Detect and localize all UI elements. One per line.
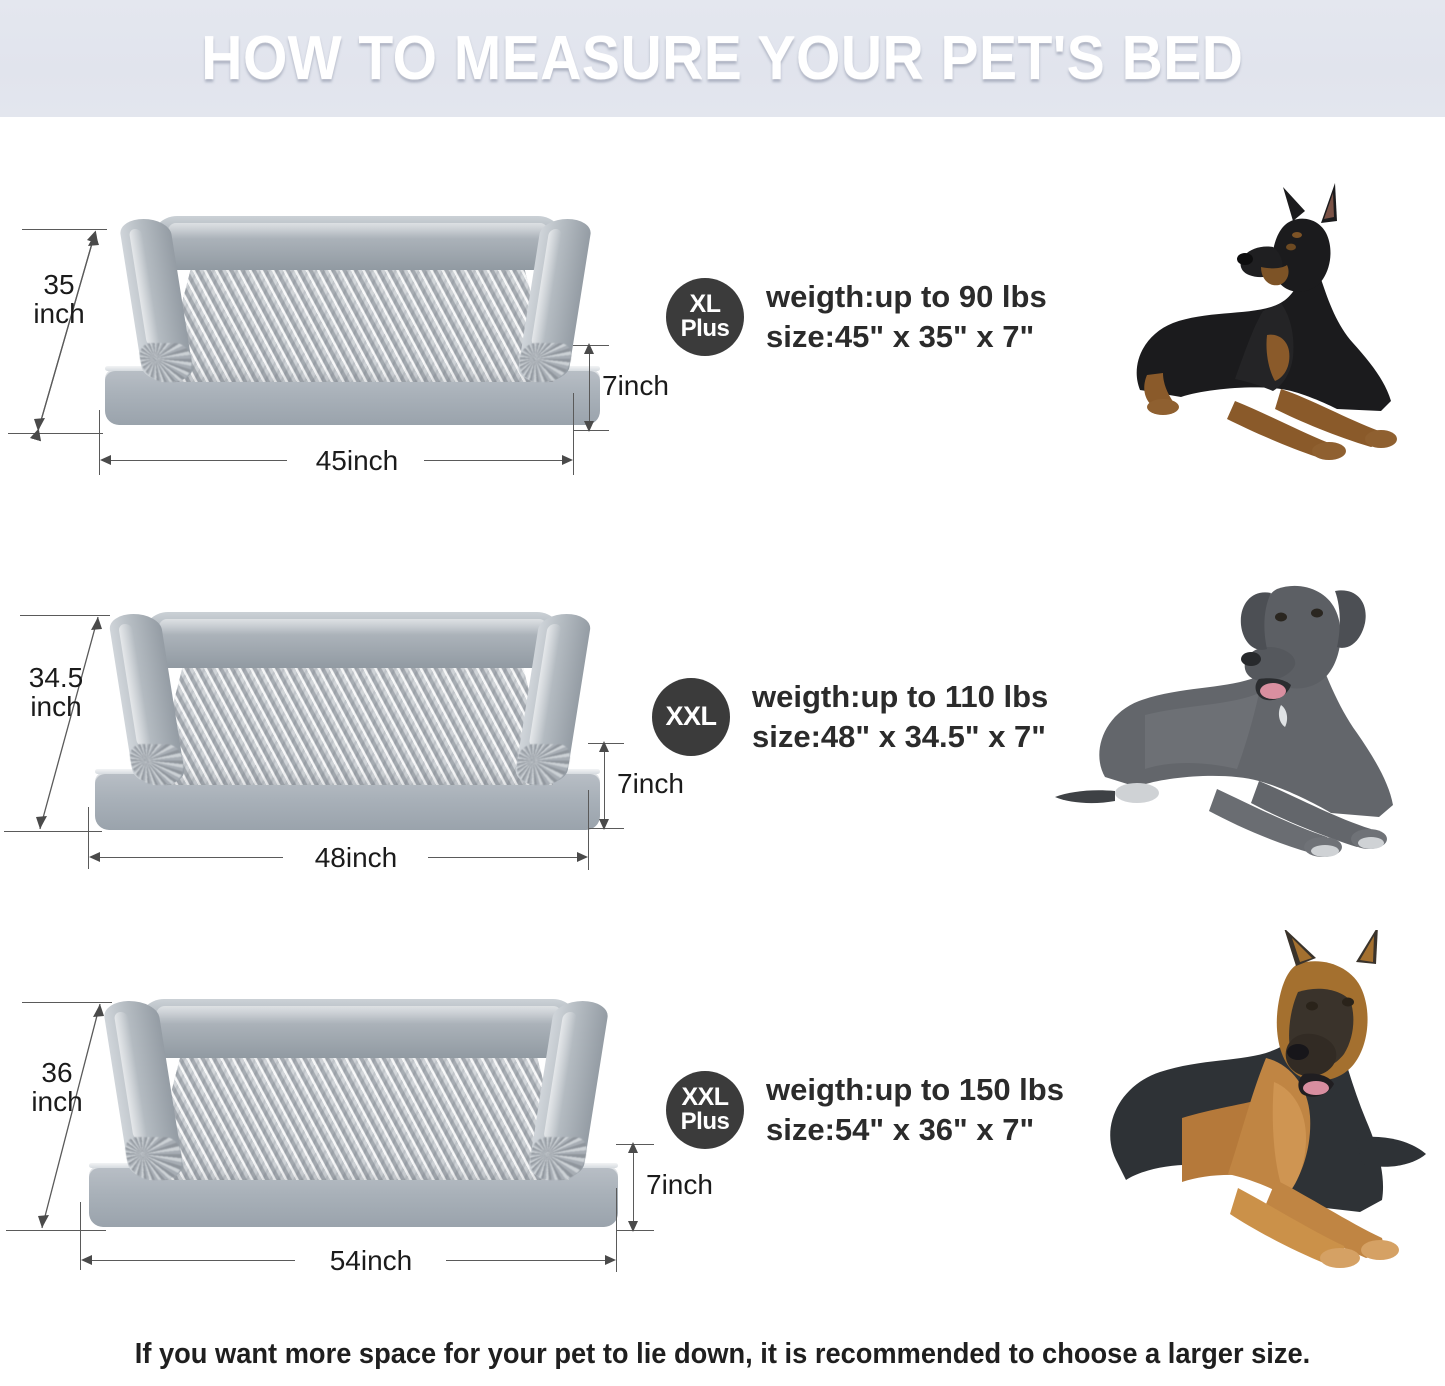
width-tick-right [573,393,574,475]
depth-arrow [0,215,130,450]
width-line-right [428,857,583,858]
size-badge-xxl: XXL [652,678,730,756]
depth-label: 34.5 inch [6,663,106,722]
spec-weight: weigth:up to 90 lbs [766,277,1047,317]
bed-back-bolster [151,216,564,270]
spec-weight: weigth:up to 110 lbs [752,677,1048,717]
width-label: 45inch [287,446,427,475]
height-line [633,1147,634,1227]
spec-weight: weigth:up to 150 lbs [766,1070,1064,1110]
spec-text-block: weigth:up to 110 lbs size:48" x 34.5" x … [752,677,1048,756]
spec-xxl: XXL weigth:up to 110 lbs size:48" x 34.5… [652,677,1048,756]
badge-line-1: XXL [665,703,716,730]
bed-mattress-surface [161,262,554,382]
width-label: 54inch [295,1246,447,1275]
great-dane-dog-image [1045,555,1435,865]
german-shepherd-dog-image [1060,930,1445,1270]
spec-size: size:54" x 36" x 7" [766,1110,1064,1150]
width-arrowhead-left [89,852,100,862]
doberman-dog-image [1085,175,1435,475]
infographic-page: HOW TO MEASURE YOUR PET'S BED [0,0,1445,1386]
height-arrowhead-bottom [584,421,594,432]
bed-illustration [95,210,605,425]
height-label: 7inch [646,1170,756,1199]
width-arrowhead-right [562,455,573,465]
bed-diagram-xxl-plus: 36 inch 54inch 7inch [0,930,700,1300]
depth-arrow [0,988,130,1246]
height-label: 7inch [617,769,727,798]
depth-label: 36 inch [8,1058,106,1117]
badge-line-1: XXL [681,1085,728,1110]
bed-mattress-surface [153,659,553,785]
bed-illustration [85,605,605,830]
height-arrowhead-top [628,1142,638,1153]
height-line [589,348,590,427]
height-arrowhead-top [584,343,594,354]
size-badge-xl-plus: XL Plus [666,278,744,356]
width-line-left [93,857,283,858]
size-row-xxl: 34.5 inch 48inch 7inch XXL weigth:up t [0,545,1445,900]
bed-back-bolster [138,999,579,1058]
badge-line-2: Plus [681,317,730,341]
width-line-left [104,460,287,461]
bed-back-bolster [142,612,563,668]
header-banner: HOW TO MEASURE YOUR PET'S BED [0,0,1445,117]
height-arrowhead-bottom [599,819,609,830]
width-arrowhead-right [605,1255,616,1265]
height-label: 7inch [602,371,712,400]
height-arrowhead-top [599,741,609,752]
page-title: HOW TO MEASURE YOUR PET'S BED [201,23,1243,94]
spec-xl-plus: XL Plus weigth:up to 90 lbs size:45" x 3… [666,277,1047,356]
width-arrowhead-right [577,852,588,862]
bed-mattress-surface [149,1048,569,1180]
depth-label: 35 inch [14,270,104,329]
bed-illustration [78,992,623,1227]
badge-line-2: Plus [681,1110,730,1134]
height-arrowhead-bottom [628,1221,638,1232]
footer-note: If you want more space for your pet to l… [43,1338,1401,1371]
size-badge-xxl-plus: XXL Plus [666,1071,744,1149]
width-line-left [85,1260,295,1261]
spec-text-block: weigth:up to 150 lbs size:54" x 36" x 7" [766,1070,1064,1149]
height-line [604,746,605,825]
bed-diagram-xl-plus: 35 inch 45inch 7inch [0,155,700,500]
width-tick-right [588,790,589,870]
width-arrowhead-left [100,455,111,465]
spec-xxl-plus: XXL Plus weigth:up to 150 lbs size:54" x… [666,1070,1064,1149]
depth-arrow [0,601,130,846]
spec-size: size:45" x 35" x 7" [766,317,1047,357]
size-row-xl-plus: 35 inch 45inch 7inch XL Plus weigt [0,155,1445,500]
size-row-xxl-plus: 36 inch 54inch 7inch XXL Plus weigth:up [0,930,1445,1300]
width-arrowhead-left [81,1255,92,1265]
width-line-right [424,460,569,461]
badge-line-1: XL [690,292,721,317]
width-line-right [446,1260,612,1261]
width-tick-left [99,410,100,475]
spec-text-block: weigth:up to 90 lbs size:45" x 35" x 7" [766,277,1047,356]
spec-size: size:48" x 34.5" x 7" [752,717,1048,757]
width-label: 48inch [283,843,429,872]
bed-diagram-xxl: 34.5 inch 48inch 7inch [0,545,700,900]
